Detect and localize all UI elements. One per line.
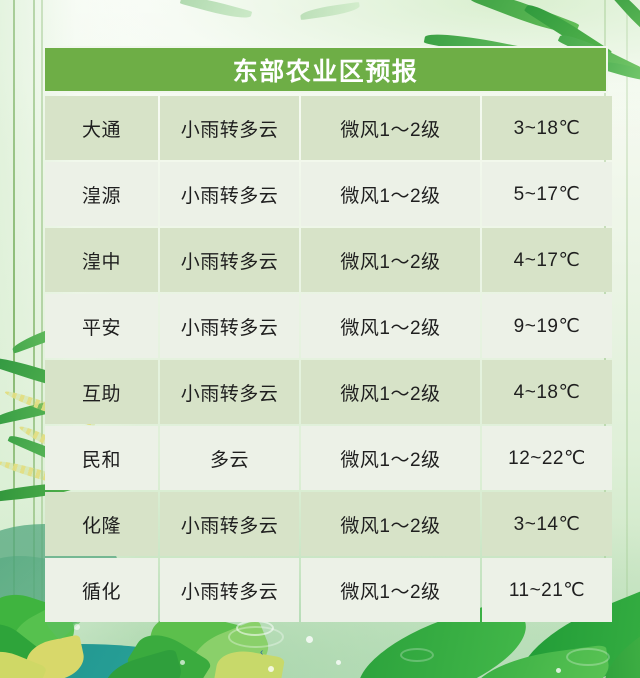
temperature-cell: 12~22℃ [482,426,612,490]
table-row: 民和 多云 微风1～2级 12~22℃ [45,426,612,490]
forecast-table: 大通 小雨转多云 微风1～2级 3~18℃ 湟源 小雨转多云 微风1～2级 5~… [43,94,614,624]
forecast-table-title: 东部农业区预报 [43,46,608,93]
sky-cell: 小雨转多云 [160,96,299,160]
wind-cell: 微风1～2级 [301,162,480,226]
water-ripple-icon [228,626,284,648]
city-cell: 大通 [45,96,158,160]
bamboo-stalk-icon [626,0,628,678]
bokeh-dot-icon [268,666,274,672]
temperature-cell: 4~17℃ [482,228,612,292]
wind-cell: 微风1～2级 [301,360,480,424]
wind-cell: 微风1～2级 [301,558,480,622]
table-row: 互助 小雨转多云 微风1～2级 4~18℃ [45,360,612,424]
bokeh-dot-icon [556,668,561,673]
table-row: 化隆 小雨转多云 微风1～2级 3~14℃ [45,492,612,556]
sky-cell: 小雨转多云 [160,294,299,358]
bokeh-dot-icon [336,660,341,665]
temperature-cell: 3~14℃ [482,492,612,556]
city-cell: 平安 [45,294,158,358]
sky-cell: 小雨转多云 [160,228,299,292]
temperature-cell: 5~17℃ [482,162,612,226]
city-cell: 湟中 [45,228,158,292]
forecast-table-container: 东部农业区预报 大通 小雨转多云 微风1～2级 3~18℃ 湟源 小雨转多云 微… [43,46,608,624]
table-row: 湟源 小雨转多云 微风1～2级 5~17℃ [45,162,612,226]
city-cell: 湟源 [45,162,158,226]
temperature-cell: 11~21℃ [482,558,612,622]
wind-cell: 微风1～2级 [301,426,480,490]
wind-cell: 微风1～2级 [301,228,480,292]
wind-cell: 微风1～2级 [301,294,480,358]
bokeh-dot-icon [74,624,80,630]
sky-cell: 小雨转多云 [160,492,299,556]
speck-mark: ‹ [260,648,263,658]
sky-cell: 多云 [160,426,299,490]
sky-cell: 小雨转多云 [160,558,299,622]
sky-cell: 小雨转多云 [160,360,299,424]
wind-cell: 微风1～2级 [301,492,480,556]
table-row: 平安 小雨转多云 微风1～2级 9~19℃ [45,294,612,358]
city-cell: 互助 [45,360,158,424]
wind-cell: 微风1～2级 [301,96,480,160]
water-ripple-icon [400,648,434,662]
temperature-cell: 3~18℃ [482,96,612,160]
temperature-cell: 9~19℃ [482,294,612,358]
table-row: 大通 小雨转多云 微风1～2级 3~18℃ [45,96,612,160]
table-row: 湟中 小雨转多云 微风1～2级 4~17℃ [45,228,612,292]
weather-forecast-poster: ‹ 东部农业区预报 大通 小雨转多云 微风1～2级 3~18℃ 湟源 小雨转多云… [0,0,640,678]
temperature-cell: 4~18℃ [482,360,612,424]
city-cell: 循化 [45,558,158,622]
bokeh-dot-icon [306,636,313,643]
sky-cell: 小雨转多云 [160,162,299,226]
bokeh-dot-icon [180,660,185,665]
water-ripple-icon [566,648,610,666]
table-row: 循化 小雨转多云 微风1～2级 11~21℃ [45,558,612,622]
city-cell: 化隆 [45,492,158,556]
city-cell: 民和 [45,426,158,490]
